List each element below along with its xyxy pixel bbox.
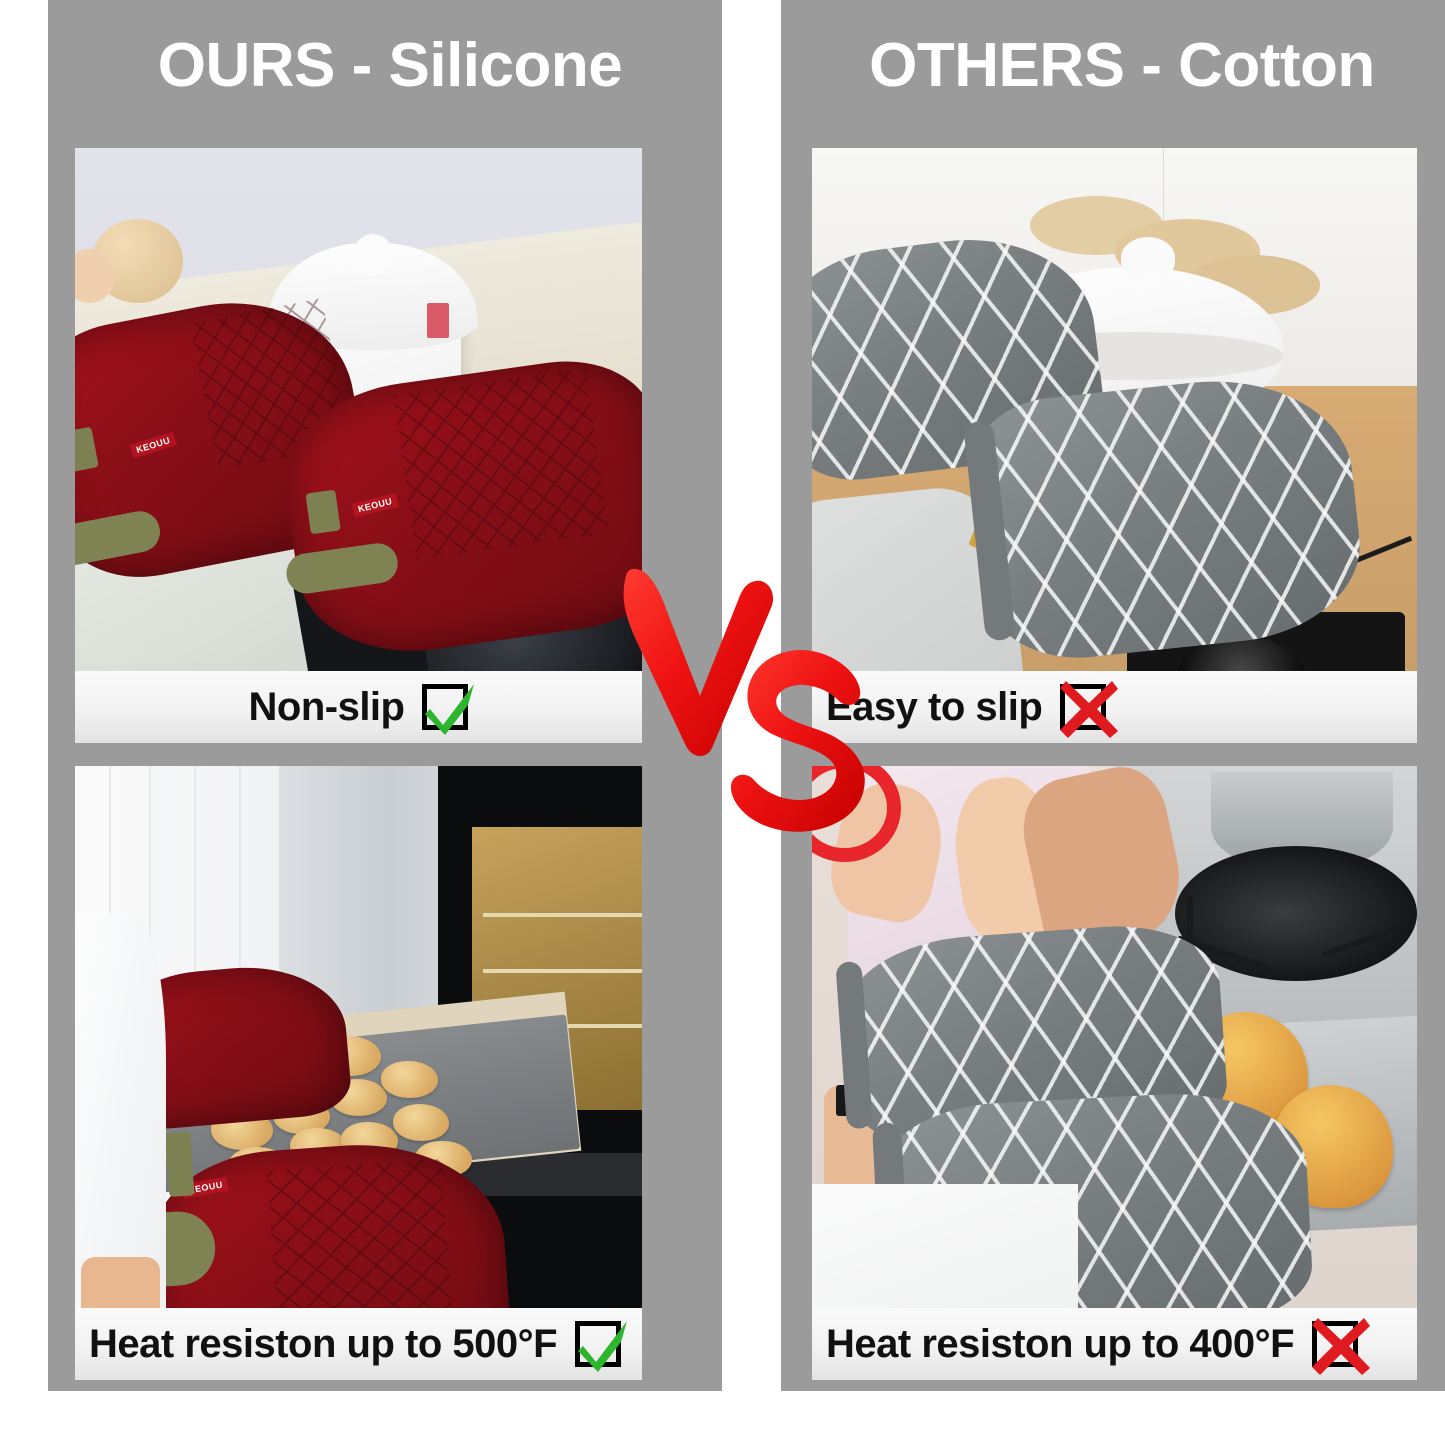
check-icon (422, 684, 468, 730)
cross-icon (1312, 1321, 1358, 1367)
cross-icon (1060, 684, 1106, 730)
photo-red-mitts-pot: KEOUU KEOUU (75, 148, 642, 743)
caption-non-slip: Non-slip (75, 671, 642, 743)
brand-tag: KEOUU (352, 493, 399, 517)
caption-text: Easy to slip (826, 685, 1042, 730)
caption-text: Heat resiston up to 500°F (89, 1322, 557, 1367)
cell-others-easy-slip: Easy to slip (812, 148, 1417, 743)
check-icon (575, 1321, 621, 1367)
panel-others-header: OTHERS - Cotton (781, 18, 1445, 113)
caption-text: Heat resiston up to 400°F (826, 1322, 1294, 1367)
cell-ours-non-slip: KEOUU KEOUU Non-slip (75, 148, 642, 743)
brand-tag: KEOUU (130, 432, 177, 459)
photo-gray-mitts-pot (812, 148, 1417, 743)
caption-heat-500: Heat resiston up to 500°F (75, 1308, 642, 1380)
photo-red-mitts-cookies: KEOUU KEOUU (75, 766, 642, 1380)
caption-text: Non-slip (249, 685, 405, 730)
caption-heat-400: Heat resiston up to 400°F (812, 1308, 1417, 1380)
caption-easy-to-slip: Easy to slip (812, 671, 1417, 743)
cell-others-heat-400: Heat resiston up to 400°F (812, 766, 1417, 1380)
panel-ours-header: OURS - Silicone (48, 18, 722, 113)
cell-ours-heat-500: KEOUU KEOUU Heat resiston up to 500°F (75, 766, 642, 1380)
photo-gray-mitts-bread (812, 766, 1417, 1380)
